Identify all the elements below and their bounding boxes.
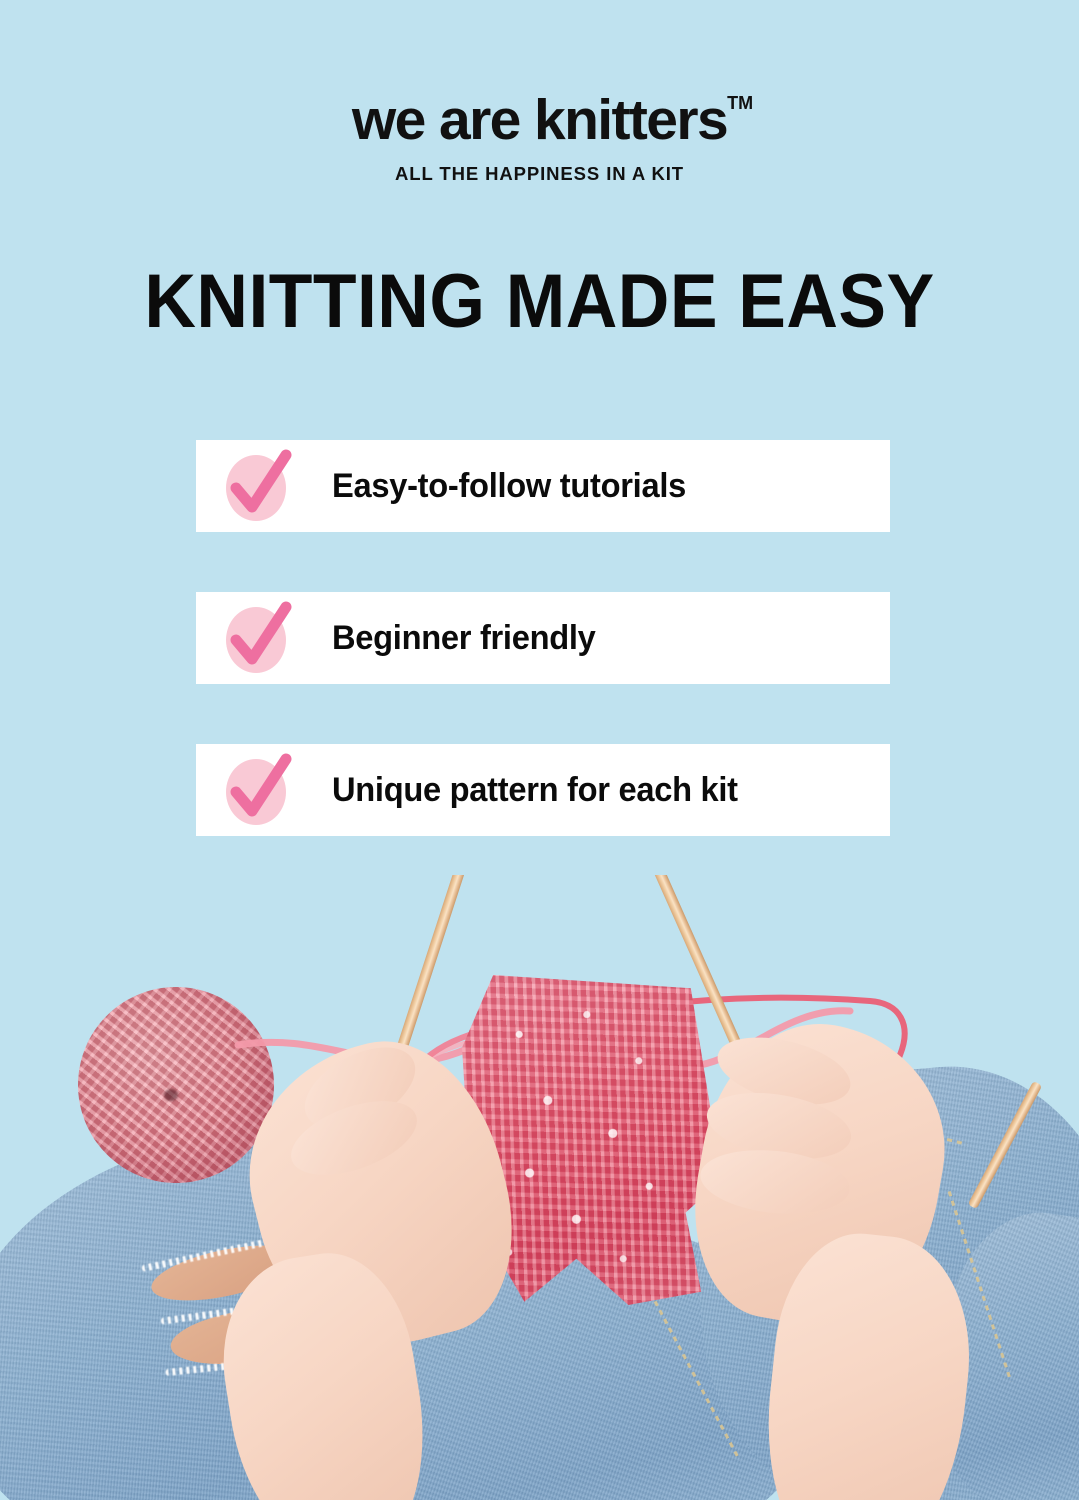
feature-list: Easy-to-follow tutorials Beginner friend… xyxy=(196,440,890,836)
brand-tagline: ALL THE HAPPINESS IN A KIT xyxy=(0,163,1079,185)
feature-card: Easy-to-follow tutorials xyxy=(196,440,890,532)
feature-card: Beginner friendly xyxy=(196,592,890,684)
poster: we are knittersTM ALL THE HAPPINESS IN A… xyxy=(0,0,1079,1500)
brand-wordmark: we are knittersTM xyxy=(352,92,727,149)
check-icon xyxy=(222,602,294,674)
trademark-symbol: TM xyxy=(727,94,753,112)
page-title: KNITTING MADE EASY xyxy=(32,264,1046,340)
feature-label: Easy-to-follow tutorials xyxy=(332,467,686,506)
hero-photo xyxy=(0,855,1079,1500)
check-icon xyxy=(222,754,294,826)
check-icon xyxy=(222,450,294,522)
brand-header: we are knittersTM ALL THE HAPPINESS IN A… xyxy=(0,92,1079,185)
feature-label: Unique pattern for each kit xyxy=(332,771,738,810)
feature-card: Unique pattern for each kit xyxy=(196,744,890,836)
photo-top-fade xyxy=(0,855,1079,875)
brand-wordmark-text: we are knitters xyxy=(352,88,727,152)
feature-label: Beginner friendly xyxy=(332,619,596,658)
